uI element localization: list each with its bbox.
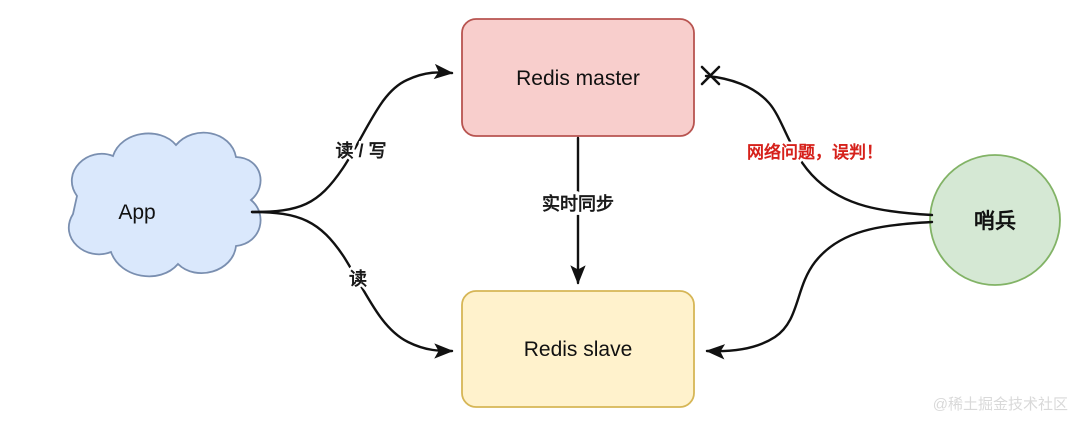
redis-master-label: Redis master bbox=[516, 67, 640, 90]
app-cloud[interactable]: App bbox=[69, 133, 261, 277]
app-cloud-label: App bbox=[118, 201, 155, 224]
redis-slave-node[interactable]: Redis slave bbox=[462, 291, 694, 407]
edge-sentinel-to-master[interactable] bbox=[702, 67, 932, 215]
watermark: @稀土掘金技术社区 bbox=[933, 396, 1068, 413]
edge-sentinel-to-slave-path bbox=[707, 222, 932, 351]
edge-app-to-master-label: 读 / 写 bbox=[335, 140, 386, 161]
edge-app-to-slave[interactable]: 读 bbox=[252, 212, 452, 351]
sentinel-node[interactable]: 哨兵 bbox=[930, 155, 1060, 285]
edge-master-to-slave[interactable]: 实时同步 bbox=[542, 138, 614, 283]
app-cloud-shape bbox=[69, 133, 261, 277]
edge-sentinel-to-slave[interactable] bbox=[707, 222, 932, 351]
edge-app-to-master[interactable]: 读 / 写 bbox=[252, 72, 452, 212]
diagram-svg: App Redis master Redis slave 哨兵 读 / 写 读 bbox=[0, 0, 1080, 425]
redis-master-node[interactable]: Redis master bbox=[462, 19, 694, 136]
redis-slave-label: Redis slave bbox=[524, 338, 633, 361]
x-mark-icon bbox=[702, 67, 719, 84]
network-issue-annotation: 网络问题，误判！ bbox=[747, 142, 883, 162]
sentinel-label: 哨兵 bbox=[974, 209, 1016, 233]
diagram-canvas: App Redis master Redis slave 哨兵 读 / 写 读 bbox=[0, 0, 1080, 425]
edge-master-to-slave-label: 实时同步 bbox=[542, 193, 614, 214]
edge-app-to-slave-label: 读 bbox=[349, 268, 367, 289]
